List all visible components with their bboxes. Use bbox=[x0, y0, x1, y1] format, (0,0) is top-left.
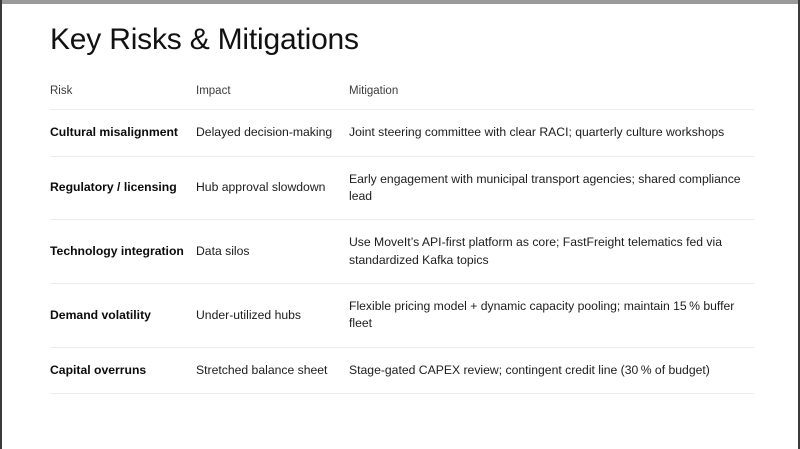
cell-mitigation: Early engagement with municipal transpor… bbox=[349, 156, 754, 220]
cell-mitigation: Flexible pricing model + dynamic capacit… bbox=[349, 284, 754, 348]
cell-impact: Delayed decision-making bbox=[196, 110, 349, 156]
table-header-row: Risk Impact Mitigation bbox=[50, 84, 754, 110]
cell-impact: Hub approval slowdown bbox=[196, 156, 349, 220]
cell-impact: Stretched balance sheet bbox=[196, 347, 349, 393]
table-header: Risk Impact Mitigation bbox=[50, 84, 754, 110]
cell-mitigation: Use MoveIt’s API-first platform as core;… bbox=[349, 220, 754, 284]
table-row: Cultural misalignment Delayed decision-m… bbox=[50, 110, 754, 156]
table-row: Demand volatility Under-utilized hubs Fl… bbox=[50, 284, 754, 348]
slide-frame: Key Risks & Mitigations Risk Impact Miti… bbox=[0, 0, 800, 449]
cell-impact: Data silos bbox=[196, 220, 349, 284]
cell-impact: Under-utilized hubs bbox=[196, 284, 349, 348]
table-body: Cultural misalignment Delayed decision-m… bbox=[50, 110, 754, 394]
cell-mitigation: Stage-gated CAPEX review; contingent cre… bbox=[349, 347, 754, 393]
column-header-risk: Risk bbox=[50, 84, 196, 110]
column-header-mitigation: Mitigation bbox=[349, 84, 754, 110]
table-row: Regulatory / licensing Hub approval slow… bbox=[50, 156, 754, 220]
cell-risk: Regulatory / licensing bbox=[50, 156, 196, 220]
cell-risk: Capital overruns bbox=[50, 347, 196, 393]
cell-risk: Technology integration bbox=[50, 220, 196, 284]
cell-risk: Cultural misalignment bbox=[50, 110, 196, 156]
risk-mitigation-table: Risk Impact Mitigation Cultural misalign… bbox=[50, 84, 754, 394]
slide-body: Key Risks & Mitigations Risk Impact Miti… bbox=[2, 4, 798, 449]
table-row: Technology integration Data silos Use Mo… bbox=[50, 220, 754, 284]
table-row: Capital overruns Stretched balance sheet… bbox=[50, 347, 754, 393]
column-header-impact: Impact bbox=[196, 84, 349, 110]
cell-mitigation: Joint steering committee with clear RACI… bbox=[349, 110, 754, 156]
cell-risk: Demand volatility bbox=[50, 284, 196, 348]
page-title: Key Risks & Mitigations bbox=[50, 22, 359, 58]
